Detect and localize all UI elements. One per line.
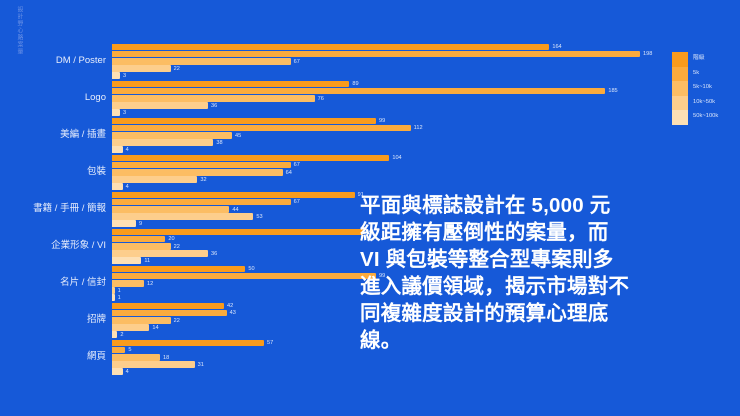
bar-row: 3	[112, 109, 740, 115]
bar-group: DM / Poster16419867223	[0, 44, 740, 81]
bar-row: 4	[112, 146, 740, 152]
bar-row: 22	[112, 65, 740, 71]
bar	[112, 206, 229, 212]
category-label: 美編 / 插畫	[0, 130, 106, 140]
headline-line: 級距擁有壓倒性的案量，而	[360, 219, 732, 246]
bar	[112, 169, 283, 175]
bar-row: 36	[112, 102, 740, 108]
bar-row: 89	[112, 81, 740, 87]
bar-stack: 16419867223	[112, 44, 740, 79]
bar	[112, 317, 171, 323]
bar-stack: 8918576363	[112, 81, 740, 116]
bar	[112, 176, 197, 182]
bar-row: 4	[112, 368, 740, 374]
category-label: 書籍 / 手冊 / 簡報	[0, 204, 106, 214]
legend-item[interactable]: 50k~100k	[672, 110, 734, 125]
bar-group: 美編 / 插畫9911245384	[0, 118, 740, 155]
headline-line: 線。	[360, 327, 732, 354]
bar-row: 67	[112, 162, 740, 168]
bar-row: 3	[112, 72, 740, 78]
bar	[112, 361, 195, 367]
bar-row: 32	[112, 176, 740, 182]
bar-stack: 1046764324	[112, 155, 740, 190]
bar-row: 31	[112, 361, 740, 367]
slide-canvas: 設計野心路案量 DM / Poster16419867223Logo891857…	[0, 0, 740, 416]
bar	[112, 213, 253, 219]
bar	[112, 220, 136, 226]
bar	[112, 229, 363, 235]
bar-row: 64	[112, 169, 740, 175]
bar	[112, 287, 115, 293]
bar-row: 67	[112, 58, 740, 64]
headline-line: VI 與包裝等整合型專案則多	[360, 246, 732, 273]
bar	[112, 266, 245, 272]
bar	[112, 294, 115, 300]
bar	[112, 303, 224, 309]
bar	[112, 146, 123, 152]
bar	[112, 81, 349, 87]
legend-swatch	[672, 52, 688, 67]
bar-value-label: 4	[126, 148, 129, 154]
legend-item[interactable]: 5k~10k	[672, 81, 734, 96]
legend-item[interactable]: 階級	[672, 52, 734, 67]
bar-row: 18	[112, 354, 740, 360]
bar	[112, 236, 165, 242]
bar-row: 76	[112, 95, 740, 101]
bar	[112, 347, 125, 353]
legend-swatch	[672, 67, 688, 82]
bar	[112, 65, 171, 71]
bar	[112, 280, 144, 286]
bar-value-label: 1	[118, 296, 121, 302]
bar-value-label: 11	[144, 259, 150, 265]
category-label: Logo	[0, 93, 106, 103]
headline-line: 平面與標誌設計在 5,000 元	[360, 192, 732, 219]
bar-value-label: 2	[120, 333, 123, 339]
bar	[112, 139, 213, 145]
legend-label: 10k~50k	[693, 100, 715, 106]
bar	[112, 125, 411, 131]
legend-item[interactable]: 5k	[672, 67, 734, 82]
bar-row: 4	[112, 183, 740, 189]
bar	[112, 88, 605, 94]
bar-row: 198	[112, 51, 740, 57]
legend-label: 50k~100k	[693, 114, 718, 120]
legend-swatch	[672, 96, 688, 111]
bar	[112, 273, 376, 279]
headline-line: 進入議價領域，揭示市場對不	[360, 273, 732, 300]
bar	[112, 58, 291, 64]
category-label: 名片 / 信封	[0, 278, 106, 288]
bar-value-label: 3	[123, 74, 126, 80]
bar	[112, 331, 117, 337]
category-label: 招牌	[0, 315, 106, 325]
bar	[112, 155, 389, 161]
bar	[112, 199, 291, 205]
bar-group: 包裝1046764324	[0, 155, 740, 192]
headline-text: 平面與標誌設計在 5,000 元級距擁有壓倒性的案量，而VI 與包裝等整合型專案…	[360, 192, 732, 354]
bar	[112, 324, 149, 330]
bar	[112, 368, 123, 374]
bar-row: 104	[112, 155, 740, 161]
bar	[112, 257, 141, 263]
legend-swatch	[672, 81, 688, 96]
bar-value-label: 4	[126, 185, 129, 191]
bar-value-label: 9	[139, 222, 142, 228]
legend-label: 階級	[693, 56, 705, 62]
bar-row: 45	[112, 132, 740, 138]
legend-item[interactable]: 10k~50k	[672, 96, 734, 111]
bar	[112, 102, 208, 108]
chart-legend: 階級5k5k~10k10k~50k50k~100k	[672, 52, 734, 125]
legend-label: 5k~10k	[693, 85, 712, 91]
bar-row: 112	[112, 125, 740, 131]
bar	[112, 51, 640, 57]
bar	[112, 109, 120, 115]
bar-row: 99	[112, 118, 740, 124]
bar	[112, 310, 227, 316]
bar-value-label: 3	[123, 111, 126, 117]
bar	[112, 243, 171, 249]
bar	[112, 183, 123, 189]
bar	[112, 95, 315, 101]
bar-group: Logo8918576363	[0, 81, 740, 118]
bar	[112, 250, 208, 256]
bar-row: 38	[112, 139, 740, 145]
bar	[112, 132, 232, 138]
legend-label: 5k	[693, 71, 699, 77]
bar	[112, 354, 160, 360]
headline-line: 同複雜度設計的預算心理底	[360, 300, 732, 327]
bar	[112, 44, 549, 50]
category-label: DM / Poster	[0, 56, 106, 66]
legend-swatch	[672, 110, 688, 125]
bar-stack: 9911245384	[112, 118, 740, 153]
bar	[112, 72, 120, 78]
bar	[112, 118, 376, 124]
category-label: 包裝	[0, 167, 106, 177]
bar	[112, 192, 355, 198]
bar-row: 164	[112, 44, 740, 50]
bar-value-label: 4	[126, 370, 129, 376]
bar-row: 185	[112, 88, 740, 94]
category-label: 網頁	[0, 352, 106, 362]
bar	[112, 340, 264, 346]
category-label: 企業形象 / VI	[0, 241, 106, 251]
bar	[112, 162, 291, 168]
